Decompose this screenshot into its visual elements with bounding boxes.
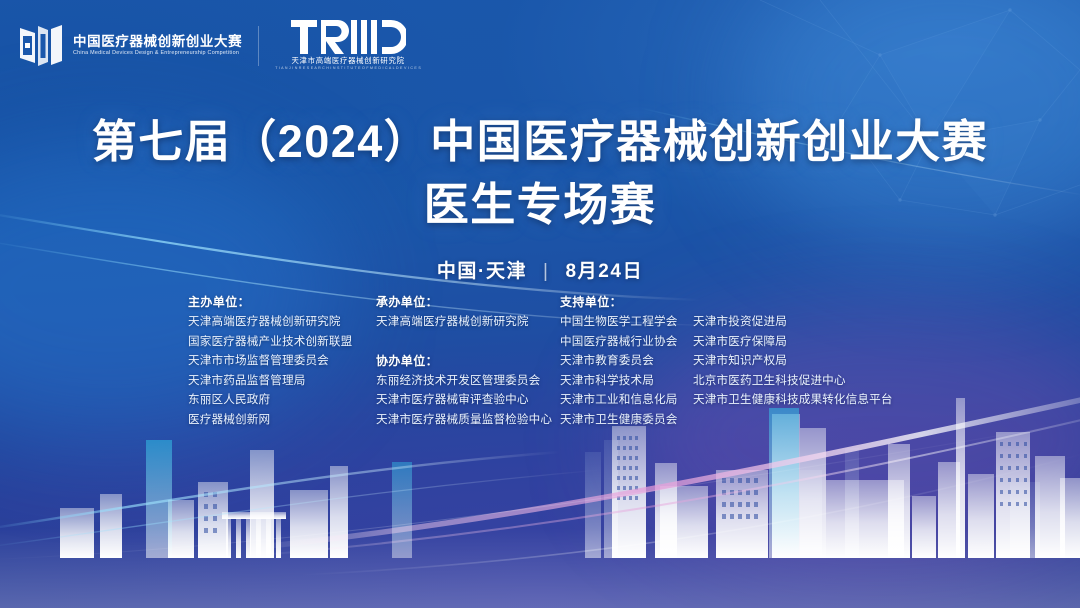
organizer-item: 东丽经济技术开发区管理委员会	[376, 371, 560, 391]
organizer-item: 天津市卫生健康委员会	[560, 410, 693, 430]
main-title-line1: 第七届（2024）中国医疗器械创新创业大赛	[0, 115, 1080, 170]
organizer-item: 北京市医药卫生科技促进中心	[693, 371, 908, 391]
organizer-item: 医疗器械创新网	[188, 410, 376, 430]
competition-logo: 中国医疗器械创新创业大赛 China Medical Devices Desig…	[18, 24, 242, 68]
trimd-logo: 天津市高端医疗器械创新研究院 T I A N J I N R E S E A R…	[275, 20, 421, 71]
open-door-icon	[18, 24, 64, 68]
organizer-group: 支持单位： 中国生物医学工程学会 中国医疗器械行业协会 天津市教育委员会 天津市…	[560, 292, 693, 430]
main-title-line2: 医生专场赛	[0, 178, 1080, 233]
organizer-item: 天津市科学技术局	[560, 371, 693, 391]
organizer-item: 天津高端医疗器械创新研究院	[188, 312, 376, 332]
organizer-group: 主办单位： 天津高端医疗器械创新研究院 国家医疗器械产业技术创新联盟 天津市市场…	[188, 292, 376, 430]
organizer-item: 天津市工业和信息化局	[560, 390, 693, 410]
event-poster: 中国医疗器械创新创业大赛 China Medical Devices Desig…	[0, 0, 1080, 608]
logo-bar: 中国医疗器械创新创业大赛 China Medical Devices Desig…	[18, 20, 421, 71]
organizer-item: 天津市医疗器械审评查验中心	[376, 390, 560, 410]
group-heading: 协办单位：	[376, 351, 560, 371]
organizer-column: 天津市投资促进局 天津市医疗保障局 天津市知识产权局 北京市医药卫生科技促进中心…	[693, 292, 908, 410]
group-heading: 主办单位：	[188, 292, 376, 312]
logo-divider	[258, 26, 259, 66]
organizer-columns: 主办单位： 天津高端医疗器械创新研究院 国家医疗器械产业技术创新联盟 天津市市场…	[188, 292, 908, 430]
organizer-column: 主办单位： 天津高端医疗器械创新研究院 国家医疗器械产业技术创新联盟 天津市市场…	[188, 292, 376, 430]
organizer-item: 中国医疗器械行业协会	[560, 332, 693, 352]
organizer-item: 天津市医疗保障局	[693, 332, 908, 352]
trimd-wordmark-icon	[291, 20, 406, 54]
organizer-group: 协办单位： 东丽经济技术开发区管理委员会 天津市医疗器械审评查验中心 天津市医疗…	[376, 351, 560, 430]
organizer-item: 天津高端医疗器械创新研究院	[376, 312, 560, 332]
group-heading: 承办单位：	[376, 292, 560, 312]
organizer-group: 天津市投资促进局 天津市医疗保障局 天津市知识产权局 北京市医药卫生科技促进中心…	[693, 312, 908, 410]
organizer-item: 中国生物医学工程学会	[560, 312, 693, 332]
organizer-group: 承办单位： 天津高端医疗器械创新研究院	[376, 292, 560, 332]
trimd-logo-cn: 天津市高端医疗器械创新研究院	[291, 57, 404, 64]
organizer-item: 天津市知识产权局	[693, 351, 908, 371]
location-text: 中国·天津	[437, 261, 527, 282]
competition-logo-cn: 中国医疗器械创新创业大赛	[73, 35, 242, 49]
trimd-logo-en: T I A N J I N R E S E A R C H I N S T I …	[275, 67, 421, 71]
group-heading: 支持单位：	[560, 292, 693, 312]
location-date-line: 中国·天津 | 8月24日	[0, 256, 1080, 283]
organizer-item: 天津市投资促进局	[693, 312, 908, 332]
date-text: 8月24日	[565, 261, 643, 282]
competition-logo-en: China Medical Devices Design & Entrepren…	[73, 50, 242, 56]
organizer-column: 承办单位： 天津高端医疗器械创新研究院 协办单位： 东丽经济技术开发区管理委员会…	[376, 292, 560, 429]
organizer-column: 支持单位： 中国生物医学工程学会 中国医疗器械行业协会 天津市教育委员会 天津市…	[560, 292, 693, 430]
organizer-item: 天津市医疗器械质量监督检验中心	[376, 410, 560, 430]
organizer-item: 天津市市场监督管理委员会	[188, 351, 376, 371]
organizer-item: 天津市卫生健康科技成果转化信息平台	[693, 390, 908, 410]
separator: |	[543, 261, 550, 283]
organizer-item: 东丽区人民政府	[188, 390, 376, 410]
organizer-item: 天津市教育委员会	[560, 351, 693, 371]
organizer-item: 天津市药品监督管理局	[188, 371, 376, 391]
organizer-item: 国家医疗器械产业技术创新联盟	[188, 332, 376, 352]
title-block: 第七届（2024）中国医疗器械创新创业大赛 医生专场赛	[0, 115, 1080, 233]
